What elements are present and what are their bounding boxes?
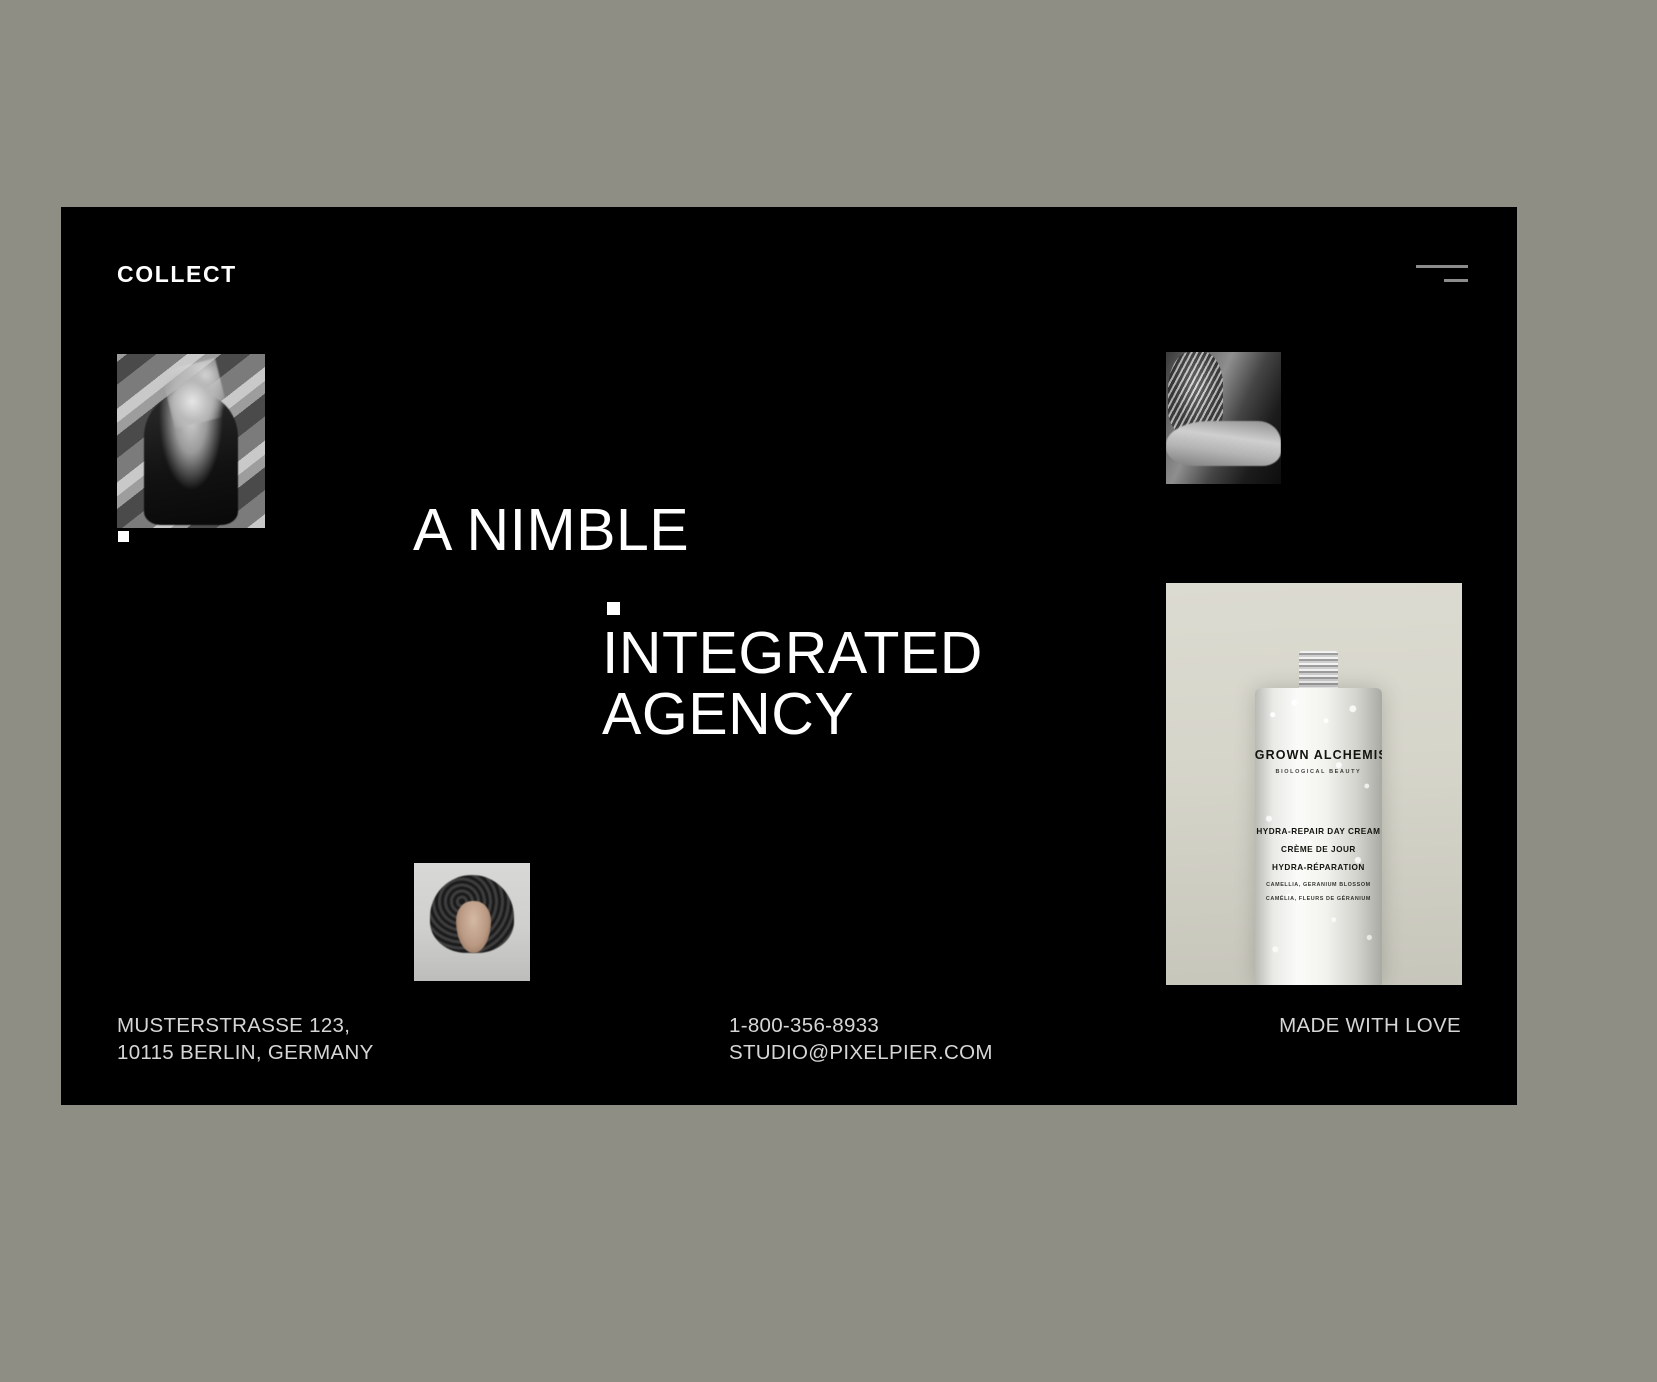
- page-canvas: COLLECT GROWN ALCHEMIST BIOLOGICAL BEAUT…: [0, 0, 1657, 1382]
- hamburger-menu-icon[interactable]: [1416, 255, 1468, 283]
- footer-phone[interactable]: 1-800-356-8933: [729, 1012, 993, 1039]
- hamburger-bar-bottom: [1444, 279, 1468, 282]
- photo-product-tube[interactable]: GROWN ALCHEMIST BIOLOGICAL BEAUTY HYDRA-…: [1166, 583, 1462, 985]
- photo-portrait-curly-hair-image: [414, 863, 530, 981]
- product-line-3: HYDRA-RÉPARATION: [1255, 863, 1382, 873]
- photo-portrait-curly-hair[interactable]: [414, 863, 530, 981]
- page-title-line-2b: AGENCY: [602, 684, 983, 745]
- page-title-line-2: INTEGRATED AGENCY: [602, 623, 983, 745]
- photo-neck-tattoo-image: [1166, 352, 1281, 484]
- footer-credit-text: MADE WITH LOVE: [1279, 1012, 1461, 1039]
- product-line-1: HYDRA-REPAIR DAY CREAM: [1255, 827, 1382, 837]
- product-brand: GROWN ALCHEMIST: [1255, 748, 1382, 763]
- footer-address-line-2: 10115 BERLIN, GERMANY: [117, 1039, 374, 1066]
- product-ingredients-en: CAMELLIA, GERANIUM BLOSSOM: [1255, 882, 1382, 888]
- square-bullet-middle: [607, 602, 620, 615]
- footer-address-line-1: MUSTERSTRASSE 123,: [117, 1012, 374, 1039]
- square-bullet-upper: [118, 531, 129, 542]
- hero-card: COLLECT GROWN ALCHEMIST BIOLOGICAL BEAUT…: [61, 207, 1517, 1105]
- photo-escalator-figure-image: [117, 354, 265, 528]
- product-tagline: BIOLOGICAL BEAUTY: [1255, 769, 1382, 775]
- product-body: GROWN ALCHEMIST BIOLOGICAL BEAUTY HYDRA-…: [1255, 688, 1382, 985]
- product-line-2: CRÈME DE JOUR: [1255, 845, 1382, 855]
- hamburger-bar-top: [1416, 265, 1468, 268]
- footer-address: MUSTERSTRASSE 123, 10115 BERLIN, GERMANY: [117, 1012, 374, 1067]
- photo-escalator-figure[interactable]: [117, 354, 265, 528]
- photo-neck-tattoo[interactable]: [1166, 352, 1281, 484]
- footer-email[interactable]: STUDIO@PIXELPIER.COM: [729, 1039, 993, 1066]
- product-ingredients-fr: CAMÉLIA, FLEURS DE GÉRANIUM: [1255, 896, 1382, 902]
- page-title-line-2a: INTEGRATED: [602, 623, 983, 684]
- footer-contact: 1-800-356-8933 STUDIO@PIXELPIER.COM: [729, 1012, 993, 1067]
- page-title-line-1: A NIMBLE: [413, 500, 689, 561]
- brand-logo[interactable]: COLLECT: [117, 263, 237, 286]
- footer-credit: MADE WITH LOVE: [1279, 1012, 1461, 1039]
- photo-product-tube-image: GROWN ALCHEMIST BIOLOGICAL BEAUTY HYDRA-…: [1166, 583, 1462, 985]
